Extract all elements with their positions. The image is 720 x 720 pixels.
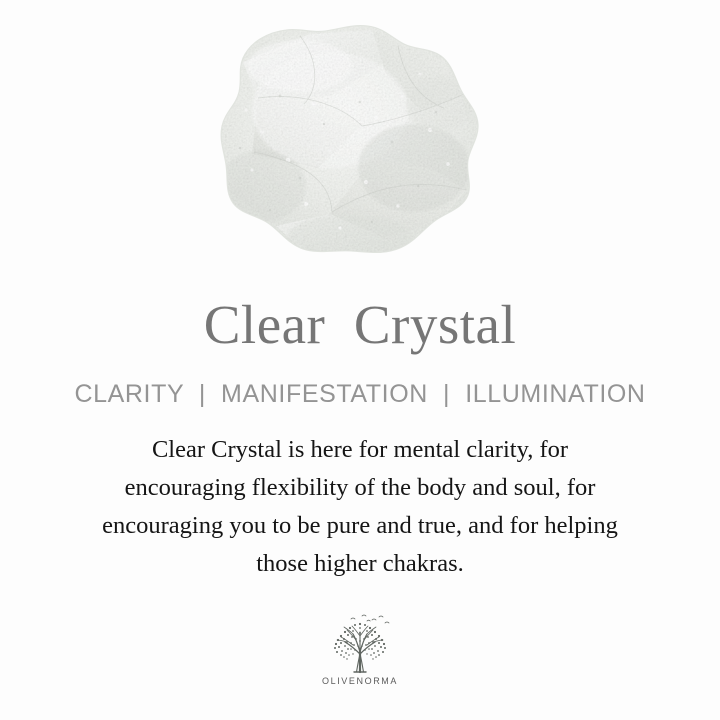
brand-logo: OLIVENORMA — [0, 612, 720, 686]
page-title: Clear Crystal — [204, 296, 516, 354]
description-line: Clear Crystal is here for mental clarity… — [40, 431, 680, 469]
product-info-card: Clear Crystal CLARITY | MANIFESTATION | … — [0, 0, 720, 720]
description-line: those higher chakras. — [40, 545, 680, 583]
brand-name: OLIVENORMA — [322, 676, 398, 686]
description-text: Clear Crystal is here for mental clarity… — [40, 431, 680, 583]
crystal-image-area — [0, 0, 720, 282]
tree-of-life-icon — [317, 612, 403, 674]
keyword-list: CLARITY | MANIFESTATION | ILLUMINATION — [74, 380, 645, 409]
clear-crystal-image — [0, 0, 720, 282]
description-line: encouraging you to be pure and true, and… — [40, 507, 680, 545]
description-line: encouraging flexibility of the body and … — [40, 469, 680, 507]
